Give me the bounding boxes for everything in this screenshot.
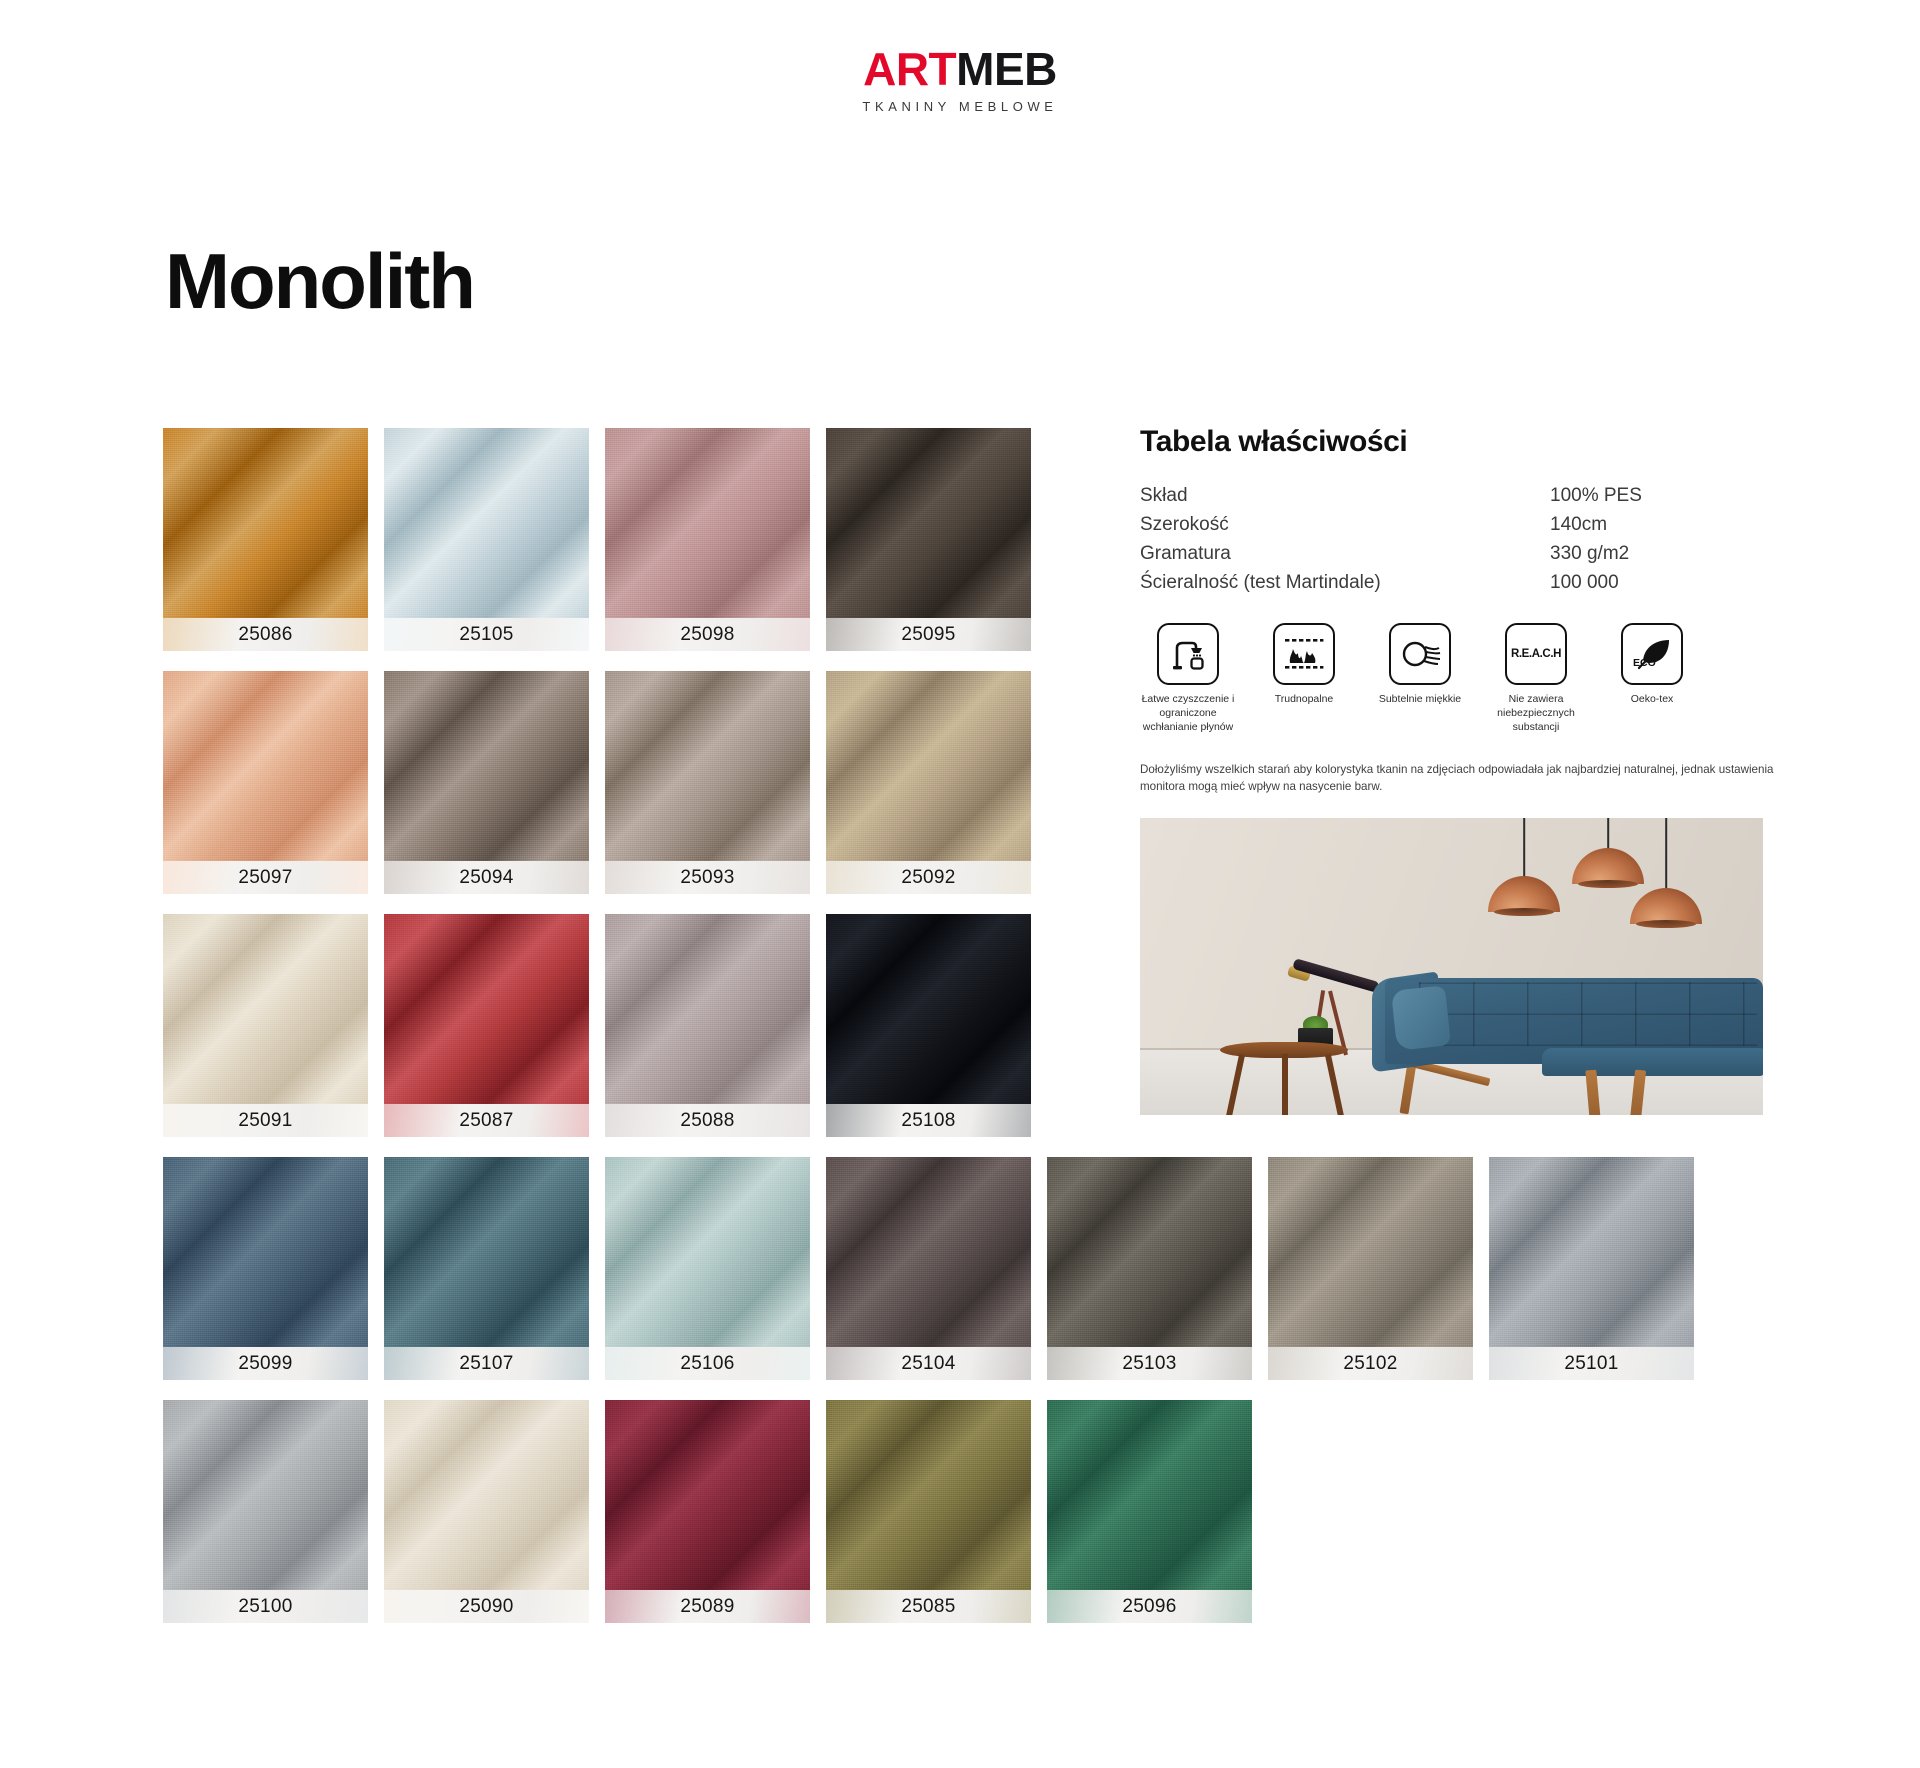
fabric-weave-texture (605, 1400, 810, 1590)
fabric-swatch[interactable]: 25087 (384, 914, 589, 1137)
certification-caption: Oeko-tex (1604, 692, 1700, 706)
soft-touch-icon (1389, 623, 1451, 685)
property-value: 140cm (1550, 510, 1780, 539)
swatch-row: 25099251072510625104251032510225101 (163, 1157, 1243, 1380)
fabric-swatch-image (384, 1400, 589, 1590)
fabric-swatch[interactable]: 25096 (1047, 1400, 1252, 1623)
sofa-pillow (1391, 985, 1451, 1050)
color-disclaimer-text: Dołożyliśmy wszelkich starań aby kolorys… (1140, 761, 1780, 797)
fabric-swatch-code: 25107 (384, 1347, 589, 1380)
property-value: 330 g/m2 (1550, 539, 1780, 568)
fabric-swatch-code: 25092 (826, 861, 1031, 894)
fabric-swatch[interactable]: 25089 (605, 1400, 810, 1623)
fabric-swatch-code: 25088 (605, 1104, 810, 1137)
fabric-swatch-image (826, 1400, 1031, 1590)
fabric-swatch-image (605, 671, 810, 861)
fabric-swatch[interactable]: 25100 (163, 1400, 368, 1623)
certification-item: Trudnopalne (1256, 623, 1352, 734)
fabric-swatch-code: 25095 (826, 618, 1031, 651)
pendant-lamp-left (1488, 818, 1560, 968)
property-label: Skład (1140, 481, 1550, 510)
property-label: Gramatura (1140, 539, 1550, 568)
fabric-weave-texture (605, 428, 810, 618)
fabric-swatch-image (384, 428, 589, 618)
svg-text:ECO: ECO (1633, 657, 1656, 669)
fabric-swatch-image (163, 428, 368, 618)
brand-wordmark: ARTMEB (0, 46, 1920, 92)
swatch-row: 25091250872508825108 (163, 914, 1243, 1137)
fabric-swatch-code: 25090 (384, 1590, 589, 1623)
fabric-weave-texture (384, 1157, 589, 1347)
fabric-swatch[interactable]: 25093 (605, 671, 810, 894)
fabric-weave-texture (605, 914, 810, 1104)
fabric-swatch-code: 25089 (605, 1590, 810, 1623)
side-table-leg (1282, 1054, 1288, 1115)
certification-item: ECOOeko-tex (1604, 623, 1700, 734)
brand-logo: ARTMEB TKANINY MEBLOWE (0, 46, 1920, 114)
properties-table: Skład100% PESSzerokość140cmGramatura330 … (1140, 481, 1780, 597)
fabric-swatch-image (1489, 1157, 1694, 1347)
fabric-swatch[interactable]: 25092 (826, 671, 1031, 894)
properties-panel: Tabela właściwości Skład100% PESSzerokoś… (1140, 425, 1780, 846)
fabric-weave-texture (384, 671, 589, 861)
fabric-swatch-image (826, 1157, 1031, 1347)
brand-wordmark-meb: MEB (956, 43, 1057, 95)
properties-row: Skład100% PES (1140, 481, 1780, 510)
fabric-swatch[interactable]: 25103 (1047, 1157, 1252, 1380)
fabric-swatch[interactable]: 25106 (605, 1157, 810, 1380)
property-label: Szerokość (1140, 510, 1550, 539)
fabric-swatch-code: 25103 (1047, 1347, 1252, 1380)
swatch-row: 25097250942509325092 (163, 671, 1243, 894)
fabric-weave-texture (384, 428, 589, 618)
property-label: Ścieralność (test Martindale) (1140, 568, 1550, 597)
page-title: Monolith (165, 242, 474, 320)
easy-clean-icon (1157, 623, 1219, 685)
swatch-row: 25086251052509825095 (163, 428, 1243, 651)
fabric-weave-texture (1489, 1157, 1694, 1347)
fabric-swatch-code: 25087 (384, 1104, 589, 1137)
fabric-swatch-code: 25097 (163, 861, 368, 894)
fabric-swatch-image (163, 1157, 368, 1347)
pendant-lamp-right (1630, 818, 1702, 983)
fabric-swatch[interactable]: 25095 (826, 428, 1031, 651)
fabric-swatch-image (163, 671, 368, 861)
fabric-swatch[interactable]: 25108 (826, 914, 1031, 1137)
properties-row: Gramatura330 g/m2 (1140, 539, 1780, 568)
brand-wordmark-art: ART (863, 43, 956, 95)
fabric-swatch[interactable]: 25098 (605, 428, 810, 651)
fabric-swatch-code: 25100 (163, 1590, 368, 1623)
fabric-weave-texture (826, 914, 1031, 1104)
property-value: 100% PES (1550, 481, 1780, 510)
fabric-swatch-image (1047, 1157, 1252, 1347)
fabric-swatch-code: 25108 (826, 1104, 1031, 1137)
flame-retardant-icon (1273, 623, 1335, 685)
fabric-swatch-image (1268, 1157, 1473, 1347)
fabric-swatch[interactable]: 25101 (1489, 1157, 1694, 1380)
fabric-swatch-image (1047, 1400, 1252, 1590)
fabric-swatch-code: 25086 (163, 618, 368, 651)
fabric-swatch[interactable]: 25094 (384, 671, 589, 894)
fabric-swatch-image (826, 671, 1031, 861)
certification-item: Subtelnie miękkie (1372, 623, 1468, 734)
fabric-swatch-image (605, 914, 810, 1104)
certification-caption: Łatwe czyszczenie i ograniczone wchłania… (1140, 692, 1236, 734)
fabric-swatch[interactable]: 25099 (163, 1157, 368, 1380)
fabric-swatch-code: 25102 (1268, 1347, 1473, 1380)
certification-icons: Łatwe czyszczenie i ograniczone wchłania… (1140, 623, 1780, 734)
fabric-weave-texture (1268, 1157, 1473, 1347)
fabric-swatch[interactable]: 25104 (826, 1157, 1031, 1380)
fabric-swatch-code: 25091 (163, 1104, 368, 1137)
brand-tagline: TKANINY MEBLOWE (0, 99, 1920, 114)
swatch-row: 2510025090250892508525096 (163, 1400, 1243, 1623)
certification-caption: Subtelnie miękkie (1372, 692, 1468, 706)
fabric-swatch-code: 25104 (826, 1347, 1031, 1380)
fabric-swatch[interactable]: 25090 (384, 1400, 589, 1623)
fabric-weave-texture (163, 914, 368, 1104)
certification-item: Łatwe czyszczenie i ograniczone wchłania… (1140, 623, 1236, 734)
fabric-weave-texture (384, 1400, 589, 1590)
oeko-tex-leaf-icon: ECO (1621, 623, 1683, 685)
fabric-swatch-image (605, 428, 810, 618)
fabric-weave-texture (163, 1400, 368, 1590)
properties-heading: Tabela właściwości (1140, 425, 1780, 459)
interior-photo (1140, 818, 1763, 1115)
fabric-swatch-image (163, 1400, 368, 1590)
certification-item: R.E.A.C.HNie zawiera niebezpiecznych sub… (1488, 623, 1584, 734)
fabric-swatch-image (605, 1157, 810, 1347)
fabric-swatch-code: 25094 (384, 861, 589, 894)
fabric-swatch-code: 25096 (1047, 1590, 1252, 1623)
fabric-swatch-code: 25098 (605, 618, 810, 651)
fabric-swatch[interactable]: 25097 (163, 671, 368, 894)
fabric-swatch-code: 25085 (826, 1590, 1031, 1623)
sofa-tufting (1419, 982, 1757, 1046)
fabric-swatch[interactable]: 25107 (384, 1157, 589, 1380)
fabric-swatch-image (163, 914, 368, 1104)
certification-caption: Nie zawiera niebezpiecznych substancji (1488, 692, 1584, 734)
fabric-swatch-code: 25105 (384, 618, 589, 651)
fabric-swatch-code: 25101 (1489, 1347, 1694, 1380)
fabric-swatch[interactable]: 25085 (826, 1400, 1031, 1623)
properties-row: Ścieralność (test Martindale)100 000 (1140, 568, 1780, 597)
fabric-weave-texture (605, 1157, 810, 1347)
fabric-swatch-image (384, 914, 589, 1104)
fabric-swatch-code: 25099 (163, 1347, 368, 1380)
fabric-swatch-image (384, 671, 589, 861)
fabric-swatch-code: 25093 (605, 861, 810, 894)
fabric-swatch-image (384, 1157, 589, 1347)
properties-row: Szerokość140cm (1140, 510, 1780, 539)
fabric-swatch-code: 25106 (605, 1347, 810, 1380)
fabric-swatch-image (605, 1400, 810, 1590)
fabric-weave-texture (826, 428, 1031, 618)
fabric-weave-texture (826, 671, 1031, 861)
property-value: 100 000 (1550, 568, 1780, 597)
fabric-weave-texture (384, 914, 589, 1104)
fabric-swatch-image (826, 428, 1031, 618)
fabric-weave-texture (826, 1400, 1031, 1590)
fabric-swatch[interactable]: 25086 (163, 428, 368, 651)
fabric-weave-texture (163, 1157, 368, 1347)
fabric-swatch-image (826, 914, 1031, 1104)
fabric-weave-texture (1047, 1157, 1252, 1347)
fabric-weave-texture (163, 671, 368, 861)
sofa-seat-front (1542, 1048, 1763, 1076)
fabric-weave-texture (1047, 1400, 1252, 1590)
fabric-swatch[interactable]: 25102 (1268, 1157, 1473, 1380)
certification-caption: Trudnopalne (1256, 692, 1352, 706)
fabric-weave-texture (163, 428, 368, 618)
fabric-weave-texture (605, 671, 810, 861)
fabric-swatch-grid: 2508625105250982509525097250942509325092… (163, 428, 1243, 1643)
fabric-swatch[interactable]: 25105 (384, 428, 589, 651)
fabric-swatch[interactable]: 25088 (605, 914, 810, 1137)
fabric-swatch[interactable]: 25091 (163, 914, 368, 1137)
fabric-weave-texture (826, 1157, 1031, 1347)
reach-icon: R.E.A.C.H (1505, 623, 1567, 685)
